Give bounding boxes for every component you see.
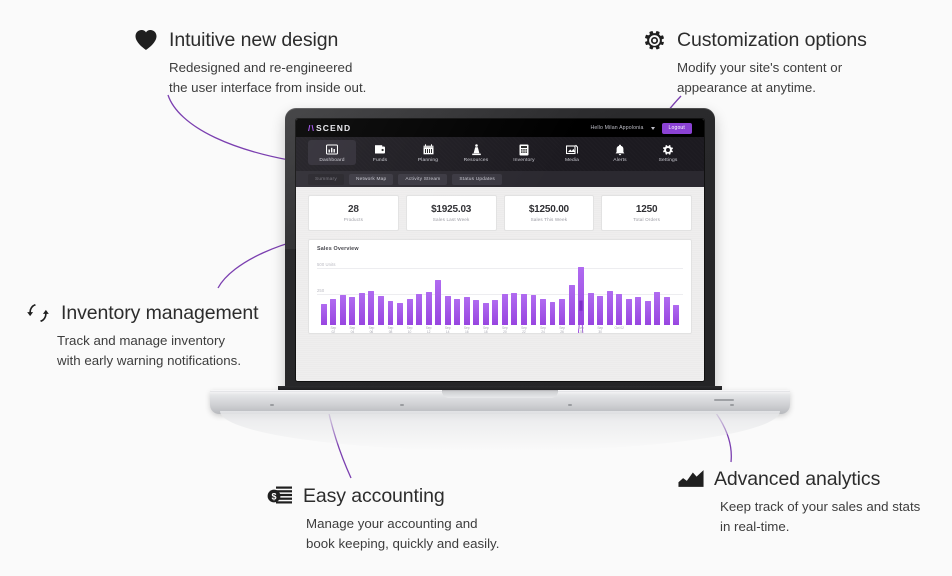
sync-arrows-icon — [25, 300, 51, 326]
chart-x-label: Sep 10 — [405, 326, 415, 334]
stat-value-sales-last-week: $1925.03 — [431, 204, 471, 215]
nav-item-inventory[interactable]: Inventory — [500, 140, 548, 165]
chart-x-label: Sep 28 — [576, 326, 586, 334]
nav-item-planning[interactable]: Planning — [404, 140, 452, 165]
chart-x-label — [548, 326, 558, 334]
bar-chart-up-icon — [678, 466, 704, 492]
laptop-foot-left — [270, 404, 274, 406]
stat-value-sales-this-week: $1250.00 — [529, 204, 569, 215]
chart-x-label: Sep 12 — [424, 326, 434, 334]
money-stack-icon: $ — [267, 483, 293, 509]
callout-accounting-head: $ Easy accounting — [267, 483, 499, 509]
callout-accounting-title: Easy accounting — [303, 485, 445, 508]
app-logo-mark: /\ — [308, 123, 315, 133]
callout-customization-title: Customization options — [677, 29, 867, 52]
chart-x-label: Sep 16 — [462, 326, 472, 334]
app-topbar: /\SCEND Hello Milan Appolonia Logout — [296, 119, 704, 137]
chart-x-label — [357, 326, 367, 334]
chart-x-label — [605, 326, 615, 334]
chart-x-label: Sep 18 — [481, 326, 491, 334]
nav-label-media: Media — [565, 158, 579, 163]
chart-x-labels: Sep 02Sep 04Sep 06Sep 08Sep 10Sep 12Sep … — [319, 326, 681, 334]
app-nav: Dashboard Funds Planning Resources Inven… — [296, 137, 704, 171]
chart-x-label: Sep 22 — [519, 326, 529, 334]
gear-icon — [641, 27, 667, 53]
stat-card-sales-last-week[interactable]: $1925.03 Sales Last Week — [406, 195, 497, 231]
callout-design-head: Intuitive new design — [133, 27, 366, 53]
laptop-foot-mid-left — [400, 404, 404, 406]
laptop-lid: /\SCEND Hello Milan Appolonia Logout Das… — [285, 108, 715, 390]
chart-x-label — [624, 326, 634, 334]
chart-x-label — [529, 326, 539, 334]
laptop-vent — [714, 399, 734, 401]
callout-design-line-1: Redesigned and re-engineered — [169, 58, 366, 78]
nav-item-funds[interactable]: Funds — [356, 140, 404, 165]
callout-accounting: $ Easy accounting Manage your accounting… — [267, 483, 499, 554]
nav-label-settings: Settings — [659, 158, 678, 163]
chart-x-label — [643, 326, 653, 334]
callout-analytics-line-2: in real-time. — [720, 517, 920, 537]
chart-x-label — [472, 326, 482, 334]
callout-analytics: Advanced analytics Keep track of your sa… — [678, 466, 920, 537]
svg-text:$: $ — [271, 492, 276, 502]
laptop-shadow — [220, 411, 780, 451]
tower-icon — [470, 143, 483, 156]
laptop-foot-mid-right — [568, 404, 572, 406]
chart-x-label: Sep 20 — [500, 326, 510, 334]
chart-x-label: Sep 24 — [538, 326, 548, 334]
nav-label-inventory: Inventory — [513, 158, 534, 163]
tab-status-updates[interactable]: Status Updates — [452, 174, 502, 185]
chart-x-label — [510, 326, 520, 334]
chart-x-label: Sep 02 — [329, 326, 339, 334]
callout-design-body: Redesigned and re-engineered the user in… — [169, 58, 366, 98]
callout-customization-line-1: Modify your site's content or — [677, 58, 867, 78]
callout-analytics-title: Advanced analytics — [714, 468, 880, 491]
chart-x-label — [672, 326, 682, 334]
chart-x-label — [414, 326, 424, 334]
chart-x-label: Sep 04 — [348, 326, 358, 334]
callout-accounting-line-2: book keeping, quickly and easily. — [306, 534, 499, 554]
bell-icon — [614, 143, 627, 156]
chart-x-label — [433, 326, 443, 334]
wallet-icon — [374, 143, 387, 156]
panel-title: Sales Overview — [317, 246, 683, 252]
callout-design-line-2: the user interface from inside out. — [169, 78, 366, 98]
callout-design: Intuitive new design Redesigned and re-e… — [133, 27, 366, 98]
chart-trend-line — [319, 258, 681, 334]
nav-item-resources[interactable]: Resources — [452, 140, 500, 165]
callout-customization-line-2: appearance at anytime. — [677, 78, 867, 98]
chart-x-label — [338, 326, 348, 334]
chart-x-label: Sep 26 — [557, 326, 567, 334]
chart-x-label — [376, 326, 386, 334]
laptop-foot-right — [730, 404, 734, 406]
callout-design-title: Intuitive new design — [169, 29, 338, 52]
nav-item-media[interactable]: Media — [548, 140, 596, 165]
callout-customization-body: Modify your site's content or appearance… — [677, 58, 867, 98]
callout-analytics-line-1: Keep track of your sales and stats — [720, 497, 920, 517]
nav-item-dashboard[interactable]: Dashboard — [308, 140, 356, 165]
chart-x-label — [662, 326, 672, 334]
chart-point — [579, 301, 582, 311]
photo-icon — [566, 143, 579, 156]
laptop-screen: /\SCEND Hello Milan Appolonia Logout Das… — [296, 119, 704, 381]
chart-x-label — [567, 326, 577, 334]
app-logo[interactable]: /\SCEND — [308, 123, 351, 133]
laptop-trackpad-notch — [442, 390, 558, 398]
chart-x-label — [491, 326, 501, 334]
chart-x-label: Sep 14 — [443, 326, 453, 334]
calendar-icon — [422, 143, 435, 156]
chart-x-label — [319, 326, 329, 334]
nav-item-settings[interactable]: Settings — [644, 140, 692, 165]
chart-x-label — [634, 326, 644, 334]
laptop-mockup: /\SCEND Hello Milan Appolonia Logout Das… — [210, 108, 790, 428]
nav-label-planning: Planning — [418, 158, 438, 163]
callout-customization: Customization options Modify your site's… — [641, 27, 867, 98]
tab-network-map[interactable]: Network Map — [349, 174, 393, 185]
stat-card-total-orders[interactable]: 1250 Total Orders — [601, 195, 692, 231]
tab-activity-stream[interactable]: Activity Stream — [398, 174, 447, 185]
calculator-icon — [518, 143, 531, 156]
callout-accounting-body: Manage your accounting and book keeping,… — [306, 514, 499, 554]
app-tabs: Summary Network Map Activity Stream Stat… — [296, 171, 704, 187]
tab-summary[interactable]: Summary — [308, 174, 344, 185]
sales-overview-panel: Sales Overview 500 Units 250 Sep 02Sep 0… — [308, 239, 692, 334]
chart-x-label — [452, 326, 462, 334]
stat-label-sales-this-week: Sales This Week — [531, 217, 568, 222]
chart-x-label: Sep 08 — [386, 326, 396, 334]
callout-customization-head: Customization options — [641, 27, 867, 53]
stat-label-sales-last-week: Sales Last Week — [433, 217, 470, 222]
chart-x-label: Oct 02 — [614, 326, 624, 334]
nav-label-resources: Resources — [464, 158, 489, 163]
sales-chart: 500 Units 250 Sep 02Sep 04Sep 06Sep 08Se… — [317, 256, 683, 334]
nav-label-dashboard: Dashboard — [319, 158, 344, 163]
chart-icon — [326, 143, 339, 156]
chevron-down-icon[interactable] — [651, 127, 655, 130]
stat-value-total-orders: 1250 — [636, 204, 657, 215]
heart-icon — [133, 27, 159, 53]
nav-label-funds: Funds — [373, 158, 387, 163]
nav-item-alerts[interactable]: Alerts — [596, 140, 644, 165]
callout-accounting-line-1: Manage your accounting and — [306, 514, 499, 534]
chart-x-label: Sep 30 — [595, 326, 605, 334]
app-topbar-right: Hello Milan Appolonia Logout — [590, 123, 692, 134]
stat-label-total-orders: Total Orders — [633, 217, 660, 222]
app-content: 28 Products $1925.03 Sales Last Week $12… — [296, 187, 704, 381]
stat-value-products: 28 — [348, 204, 359, 215]
chart-x-label — [586, 326, 596, 334]
user-greeting: Hello Milan Appolonia — [590, 125, 643, 131]
stat-label-products: Products — [344, 217, 363, 222]
gear-icon — [662, 143, 675, 156]
stat-card-sales-this-week[interactable]: $1250.00 Sales This Week — [504, 195, 595, 231]
nav-label-alerts: Alerts — [613, 158, 626, 163]
stat-cards: 28 Products $1925.03 Sales Last Week $12… — [308, 195, 692, 231]
stat-card-products[interactable]: 28 Products — [308, 195, 399, 231]
callout-analytics-head: Advanced analytics — [678, 466, 920, 492]
chart-x-label — [395, 326, 405, 334]
chart-x-label: Sep 06 — [367, 326, 377, 334]
app-logo-text: SCEND — [316, 123, 351, 133]
logout-button[interactable]: Logout — [662, 123, 693, 134]
callout-analytics-body: Keep track of your sales and stats in re… — [720, 497, 920, 537]
chart-x-label — [653, 326, 663, 334]
